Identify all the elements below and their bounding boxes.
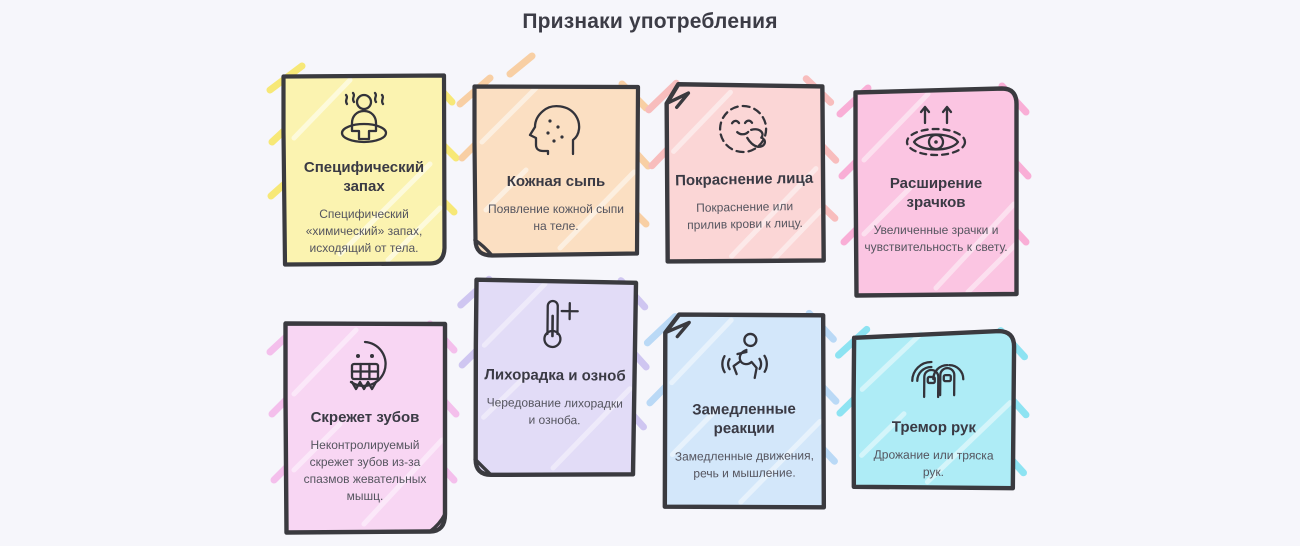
card-description: Появление кожной сыпи на теле. xyxy=(484,201,628,235)
card-title: Скрежет зубов xyxy=(311,408,420,427)
flushed-face-icon xyxy=(711,97,776,160)
card-skin-rash[interactable]: Кожная сыпь Появление кожной сыпи на тел… xyxy=(470,82,642,260)
card-title: Лихорадка и озноб xyxy=(484,365,625,386)
grinding-teeth-icon xyxy=(333,336,397,398)
card-description: Увеличенные зрачки и чувствительность к … xyxy=(864,222,1008,256)
card-description: Замедленные движения, речь и мышление. xyxy=(672,448,816,483)
card-description: Чередование лихорадки и озноба. xyxy=(483,394,625,430)
card-specific-odor[interactable]: Специфический запах Специфический «химич… xyxy=(280,72,448,268)
card-description: Неконтролируемый скрежет зубов из-за спа… xyxy=(294,437,436,505)
running-person-icon xyxy=(710,328,777,391)
dilated-eye-icon xyxy=(901,102,971,164)
card-title: Покраснение лица xyxy=(675,169,813,191)
card-teeth-grinding[interactable]: Скрежет зубов Неконтролируемый скрежет з… xyxy=(280,318,450,538)
card-title: Расширение зрачков xyxy=(864,174,1008,212)
trembling-hands-icon xyxy=(902,346,967,409)
card-facial-flushing[interactable]: Покраснение лица Покраснение или прилив … xyxy=(658,78,830,267)
head-rash-icon xyxy=(524,100,588,162)
thermometer-plus-icon xyxy=(525,294,586,357)
card-description: Дрожание или тряска рук. xyxy=(861,447,1005,482)
card-description: Специфический «химический» запах, исходя… xyxy=(294,206,434,257)
card-title: Специфический запах xyxy=(294,158,434,196)
cards-board: Специфический запах Специфический «химич… xyxy=(0,0,1300,546)
card-slowed-reactions[interactable]: Замедленные реакции Замедленные движения… xyxy=(657,309,831,514)
card-description: Покраснение или прилив крови к лицу. xyxy=(675,198,816,235)
card-title: Тремор рук xyxy=(892,418,976,438)
card-fever-chills[interactable]: Лихорадка и озноб Чередование лихорадки … xyxy=(469,275,641,481)
card-hand-tremor[interactable]: Тремор рук Дрожание или тряска рук. xyxy=(847,327,1020,494)
odor-person-icon xyxy=(329,90,399,148)
card-dilated-pupils[interactable]: Расширение зрачков Увеличенные зрачки и … xyxy=(850,84,1022,300)
card-title: Кожная сыпь xyxy=(507,172,606,191)
card-title: Замедленные реакции xyxy=(672,399,816,439)
